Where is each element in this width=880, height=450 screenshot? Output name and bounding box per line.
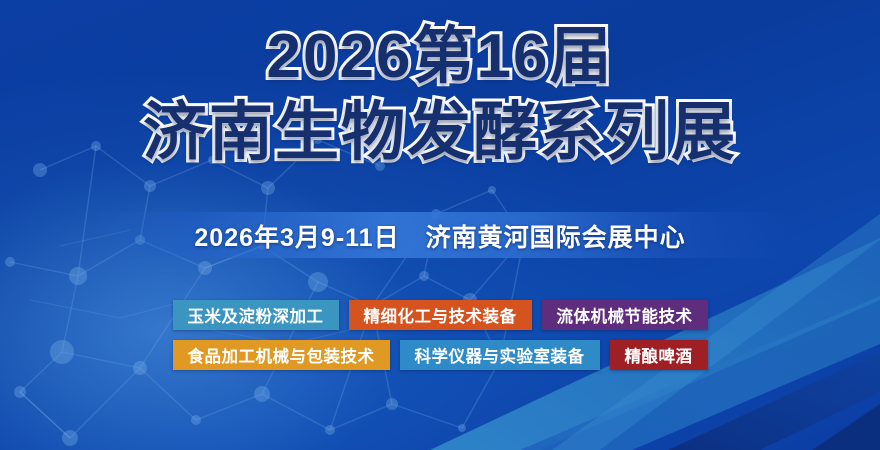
topic-tag-list: 玉米及淀粉深加工 精细化工与技术装备 流体机械节能技术 食品加工机械与包装技术 … — [0, 300, 880, 370]
topic-tag[interactable]: 精细化工与技术装备 — [349, 300, 532, 330]
topic-tag-row-2: 食品加工机械与包装技术 科学仪器与实验室装备 精酿啤酒 — [173, 340, 708, 370]
topic-tag-row-1: 玉米及淀粉深加工 精细化工与技术装备 流体机械节能技术 — [173, 300, 708, 330]
topic-tag[interactable]: 科学仪器与实验室装备 — [400, 340, 600, 370]
topic-tag[interactable]: 流体机械节能技术 — [542, 300, 708, 330]
topic-tag[interactable]: 玉米及淀粉深加工 — [173, 300, 339, 330]
title-line-1: 2026第16届 — [0, 26, 880, 88]
title-line-2: 济南生物发酵系列展 — [0, 100, 880, 164]
banner-title: 2026第16届 济南生物发酵系列展 — [0, 26, 880, 164]
topic-tag[interactable]: 食品加工机械与包装技术 — [173, 340, 390, 370]
topic-tag[interactable]: 精酿啤酒 — [610, 340, 708, 370]
event-banner: 2026第16届 济南生物发酵系列展 2026年3月9-11日 济南黄河国际会展… — [0, 0, 880, 450]
date-and-venue-text: 2026年3月9-11日 济南黄河国际会展中心 — [0, 218, 880, 254]
